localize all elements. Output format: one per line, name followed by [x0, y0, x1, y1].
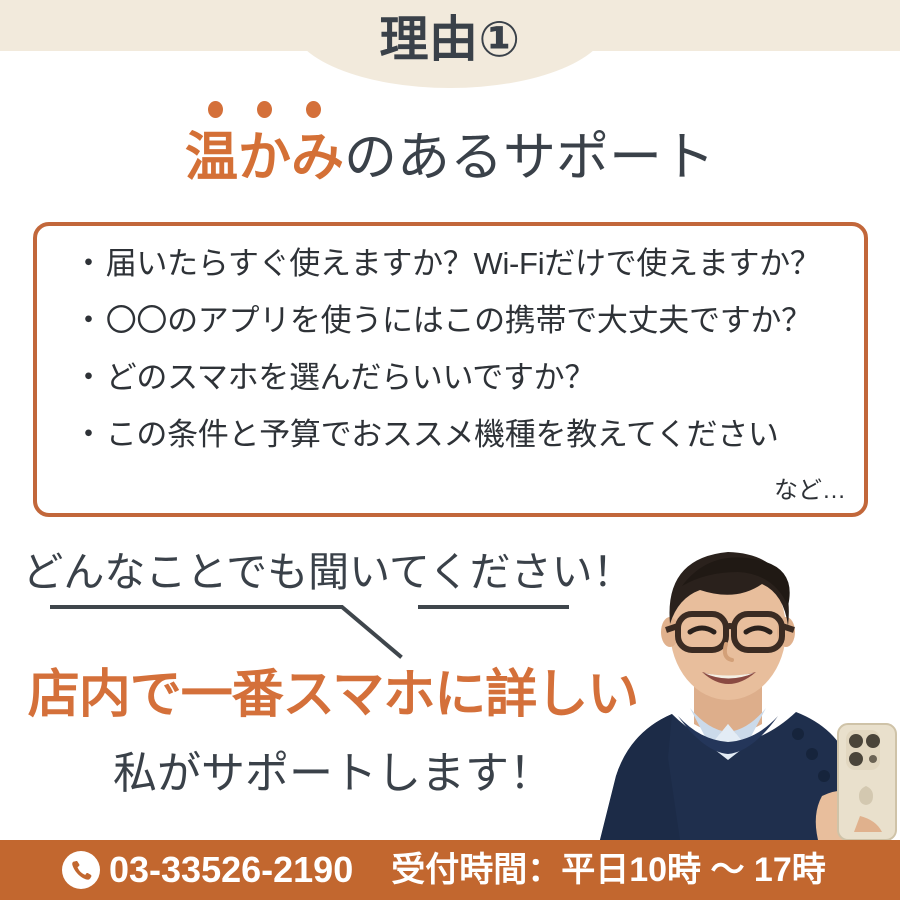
list-item-label: この条件と予算でおススメ機種を教えてください	[106, 417, 779, 452]
footer-phone-number[interactable]: 03-33526-2190	[109, 852, 353, 888]
speech-bubble-underline-icon	[0, 590, 620, 670]
list-item: ・どのスマホを選んだらいいですか？	[73, 362, 863, 393]
list-item: ・届いたらすぐ使えますか？Wi-Fiだけで使えますか？	[73, 248, 863, 279]
dot-icon	[208, 101, 223, 118]
questions-box: ・届いたらすぐ使えますか？Wi-Fiだけで使えますか？ ・〇〇のアプリを使うには…	[33, 222, 868, 517]
list-item: ・この条件と予算でおススメ機種を教えてください	[73, 419, 863, 450]
list-item-label: 届いたらすぐ使えますか？Wi-Fiだけで使えますか？	[106, 246, 821, 281]
bullet-mark: ・	[73, 417, 104, 452]
poster-canvas: 理由① 温かみのあるサポート ・届いたらすぐ使えますか？Wi-Fiだけで使えます…	[0, 0, 900, 900]
page-title: 理由①	[0, 5, 900, 75]
list-item-label: どのスマホを選んだらいいですか？	[106, 360, 595, 395]
list-item-label: 〇〇のアプリを使うにはこの携帯で大丈夫ですか？	[106, 303, 812, 338]
footer-inner: 03-33526-2190 受付時間：平日10時 ～ 17時	[0, 851, 826, 889]
phone-handset-icon	[62, 851, 100, 889]
list-item: ・〇〇のアプリを使うにはこの携帯で大丈夫ですか？	[73, 305, 863, 336]
bullet-mark: ・	[73, 360, 104, 395]
footer-contact-bar: 03-33526-2190 受付時間：平日10時 ～ 17時	[0, 840, 900, 900]
questions-list: ・届いたらすぐ使えますか？Wi-Fiだけで使えますか？ ・〇〇のアプリを使うには…	[73, 248, 863, 476]
subtitle-plain: のあるサポート	[344, 131, 715, 184]
decorative-dots	[208, 101, 338, 121]
subtitle-accent: 温かみ	[185, 131, 344, 184]
dot-icon	[306, 101, 321, 118]
dot-icon	[257, 101, 272, 118]
headline-secondary: 私がサポートします！	[8, 745, 658, 803]
bullet-mark: ・	[73, 303, 104, 338]
footer-business-hours: 受付時間：平日10時 ～ 17時	[391, 853, 826, 887]
subtitle: 温かみのあるサポート	[0, 124, 900, 190]
questions-box-note: など…	[774, 470, 846, 505]
headline-primary: 店内で一番スマホに詳しい	[8, 664, 658, 726]
bullet-mark: ・	[73, 246, 104, 281]
